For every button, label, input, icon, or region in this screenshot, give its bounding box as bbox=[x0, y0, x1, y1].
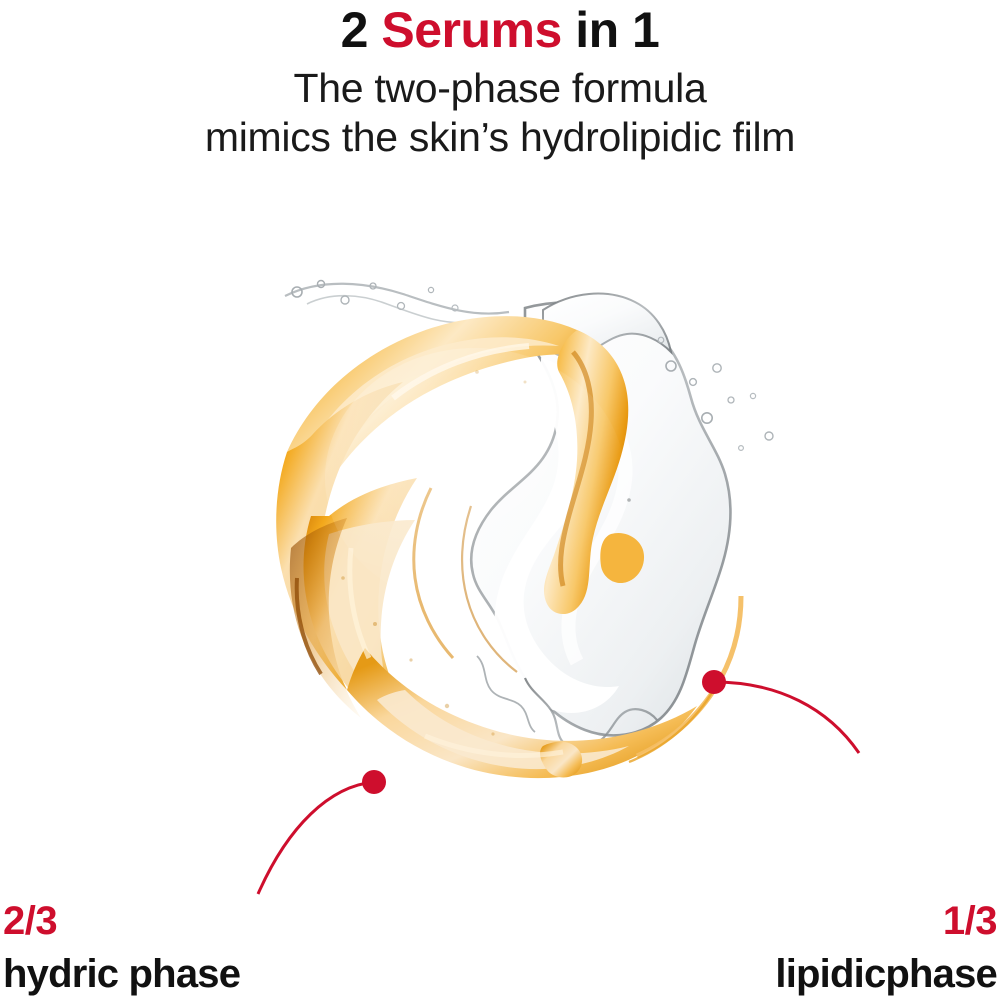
headline-prefix: 2 bbox=[341, 2, 382, 58]
headline-suffix: in 1 bbox=[562, 2, 660, 58]
callout-label-hydric: 2/3 hydric phase bbox=[3, 901, 240, 994]
liquid-swirl-image bbox=[225, 248, 795, 808]
page-title: 2 Serums in 1 bbox=[0, 2, 1000, 58]
subtitle-line-1: The two-phase formula bbox=[0, 64, 1000, 113]
lipidic-fraction: 1/3 bbox=[775, 901, 997, 941]
headline-accent-word: Serums bbox=[381, 2, 561, 58]
lipidic-phase-name: lipidicphase bbox=[775, 954, 997, 994]
hydric-fraction: 2/3 bbox=[3, 901, 240, 941]
page-subtitle: The two-phase formula mimics the skin’s … bbox=[0, 64, 1000, 162]
promo-panel: 2 Serums in 1 The two-phase formula mimi… bbox=[0, 0, 1000, 1000]
hydric-phase-name: hydric phase bbox=[3, 954, 240, 994]
callout-label-lipidic: 1/3 lipidicphase bbox=[775, 901, 997, 994]
subtitle-line-2: mimics the skin’s hydrolipidic film bbox=[0, 113, 1000, 162]
